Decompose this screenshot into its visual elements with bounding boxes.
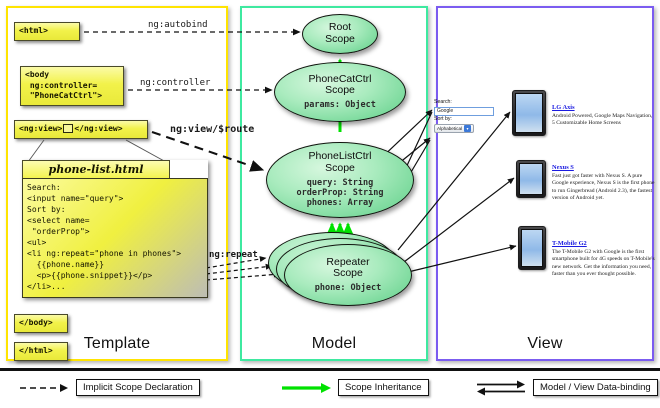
phone-list-callout: phone-list.html Search: <input name="que… [22,160,208,298]
scope-phonecatctrl-title: PhoneCatCtrlScope [308,74,371,98]
phone-name-link[interactable]: Nexus S [552,164,656,171]
sort-label: Sort by: [434,116,498,124]
phone-snippet: Android Powered, Google Maps Navigation,… [552,113,656,128]
body-tag-box: <body ng:controller= "PhoneCatCtrl"> [20,66,124,106]
phone-thumbnail-2 [516,160,546,198]
edge-label-autobind: ng:autobind [148,20,208,30]
search-form: Search: Google Sort by: Alphabetical ▾ [434,99,498,133]
scope-root: RootScope [302,14,378,54]
phone-entry: LG Axis Android Powered, Google Maps Nav… [552,104,656,128]
legend-item-implicit-scope: Implicit Scope Declaration [18,379,200,396]
ngview-close-tag: </ng:view> [74,124,122,133]
phone-thumbnail-1 [512,90,546,136]
panel-view-label: View [438,335,652,353]
scope-phonecatctrl: PhoneCatCtrlScope params: Object [274,62,406,122]
ngview-tag-box: <ng:view></ng:view> [14,120,148,139]
phone-name-link[interactable]: T-Mobile G2 [552,240,656,247]
search-input[interactable]: Google [434,107,494,116]
scope-root-title: RootScope [325,22,355,46]
edge-label-ngview: ng:view/$route [170,124,254,135]
scope-repeater: RepeaterScope phone: Object [284,244,412,306]
phone-screen [519,163,543,195]
scope-repeater-title: RepeaterScope [326,257,369,281]
scope-phonelistctrl-members: query: StringorderProp: Stringphones: Ar… [297,178,384,209]
legend-item-scope-inheritance: Scope Inheritance [280,379,429,396]
legend-label: Model / View Data-binding [533,379,658,396]
panel-model-label: Model [242,335,426,353]
scope-repeater-members: phone: Object [315,283,382,293]
scope-phonecatctrl-members: params: Object [304,100,376,110]
diagram-canvas: Template Model View [0,0,660,405]
callout-title: phone-list.html [22,160,170,178]
dashed-arrow-icon [18,382,70,394]
html-tag-box: <html> [14,22,80,41]
phone-entry: T-Mobile G2 The T-Mobile G2 with Google … [552,240,656,279]
sort-select-value: Alphabetical [437,126,462,131]
edge-label-controller: ng:controller [140,78,210,88]
phone-snippet: The T-Mobile G2 with Google is the first… [552,249,656,279]
legend: Implicit Scope Declaration Scope Inherit… [0,368,660,408]
scope-phonelistctrl-title: PhoneListCtrlScope [308,151,371,175]
phone-screen [521,229,543,267]
body-close-tag-box: </body> [14,314,68,333]
ngview-placeholder-icon [63,124,73,133]
callout-code: Search: <input name="query"> Sort by: <s… [22,178,208,298]
html-close-tag-box: </html> [14,342,68,361]
legend-item-data-binding: Model / View Data-binding [475,379,658,396]
phone-body [516,160,546,198]
double-arrow-icon [475,380,527,396]
green-arrow-icon [280,382,332,394]
chevron-down-icon: ▾ [464,125,471,132]
search-label: Search: [434,99,498,107]
phone-thumbnail-3 [518,226,546,270]
phone-screen [515,93,543,133]
sort-select[interactable]: Alphabetical ▾ [434,124,474,133]
edge-label-repeat: ng:repeat [209,250,258,260]
legend-label: Scope Inheritance [338,379,429,396]
phone-name-link[interactable]: LG Axis [552,104,656,111]
scope-phonelistctrl: PhoneListCtrlScope query: StringorderPro… [266,142,414,218]
phone-body [518,226,546,270]
ngview-open-tag: <ng:view> [19,124,62,133]
phone-body [512,90,546,136]
legend-label: Implicit Scope Declaration [76,379,200,396]
phone-snippet: Fast just got faster with Nexus S. A pur… [552,173,656,203]
phone-entry: Nexus S Fast just got faster with Nexus … [552,164,656,203]
